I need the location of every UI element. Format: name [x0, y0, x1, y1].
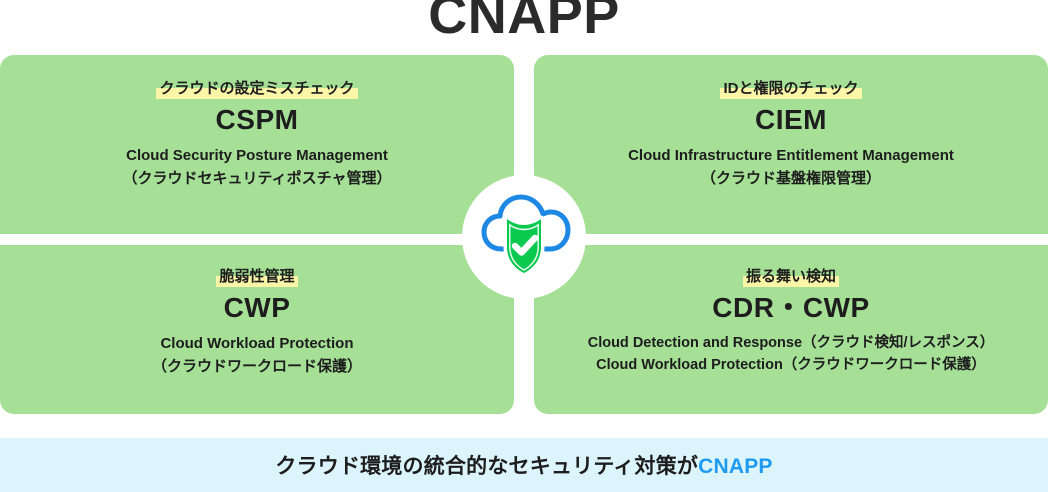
- panel-cspm: クラウドの設定ミスチェック CSPM Cloud Security Postur…: [0, 55, 514, 234]
- panel-ciem-description: Cloud Infrastructure Entitlement Managem…: [628, 145, 954, 190]
- description-line: Cloud Workload Protection（クラウドワークロード保護）: [588, 355, 995, 377]
- panel-ciem: IDと権限のチェック CIEM Cloud Infrastructure Ent…: [534, 55, 1048, 234]
- panel-cdr-cwp: 振る舞い検知 CDR・CWP Cloud Detection and Respo…: [534, 245, 1048, 414]
- panel-cwp-kicker: 脆弱性管理: [219, 269, 294, 285]
- panel-ciem-kicker: IDと権限のチェック: [723, 81, 858, 97]
- panel-cwp: 脆弱性管理 CWP Cloud Workload Protection （クラウ…: [0, 245, 514, 414]
- description-line: Cloud Detection and Response（クラウド検知/レスポン…: [588, 333, 995, 355]
- description-line: （クラウドワークロード保護）: [152, 356, 362, 379]
- summary-banner-text: クラウド環境の統合的なセキュリティ対策がCNAPP: [275, 450, 772, 480]
- panel-cdr-cwp-kicker: 振る舞い検知: [746, 269, 836, 285]
- description-line: （クラウド基盤権限管理）: [628, 168, 954, 191]
- summary-banner-main: クラウド環境の統合的なセキュリティ対策が: [275, 455, 698, 478]
- panel-cwp-acronym: CWP: [224, 292, 291, 324]
- summary-banner: クラウド環境の統合的なセキュリティ対策がCNAPP: [0, 438, 1048, 492]
- page-title: CNAPP: [0, 0, 1048, 42]
- center-emblem: [462, 175, 586, 299]
- description-line: Cloud Workload Protection: [152, 333, 362, 356]
- description-line: Cloud Infrastructure Entitlement Managem…: [628, 145, 954, 168]
- panel-cwp-description: Cloud Workload Protection （クラウドワークロード保護）: [152, 333, 362, 378]
- summary-banner-accent: CNAPP: [698, 455, 773, 478]
- cnapp-diagram: CNAPP クラウドの設定ミスチェック CSPM Cloud Security …: [0, 0, 1048, 492]
- panel-ciem-acronym: CIEM: [755, 104, 827, 136]
- cloud-shield-emblem: [474, 187, 574, 287]
- panel-cspm-kicker: クラウドの設定ミスチェック: [159, 81, 354, 97]
- panel-cdr-cwp-description: Cloud Detection and Response（クラウド検知/レスポン…: [588, 333, 995, 377]
- panel-cspm-description: Cloud Security Posture Management （クラウドセ…: [123, 145, 392, 190]
- panel-cspm-acronym: CSPM: [216, 104, 299, 136]
- description-line: （クラウドセキュリティポスチャ管理）: [123, 168, 392, 191]
- panel-cdr-cwp-acronym: CDR・CWP: [712, 292, 870, 324]
- description-line: Cloud Security Posture Management: [123, 145, 392, 168]
